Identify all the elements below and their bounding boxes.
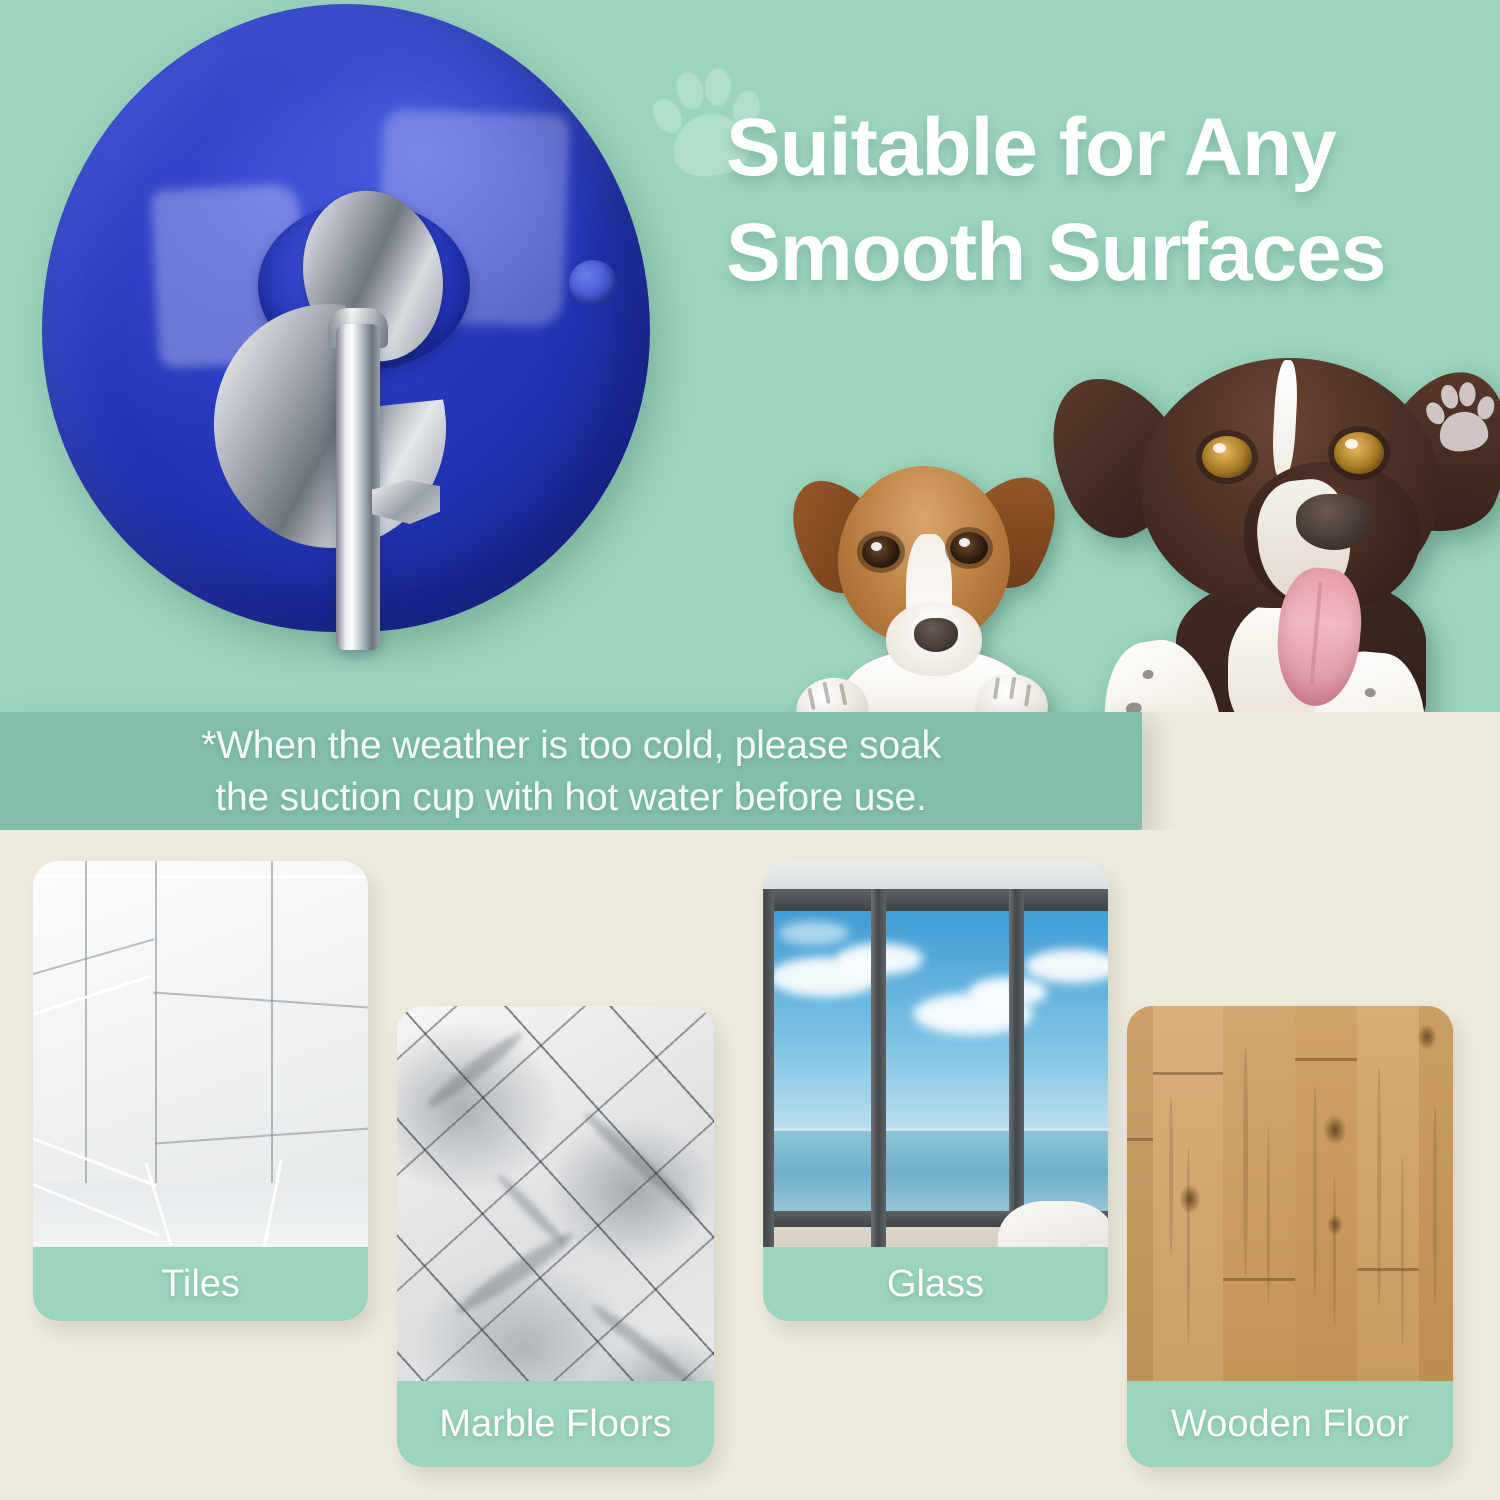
surface-card-glass: Glass [763, 861, 1108, 1321]
dog-nose [914, 618, 958, 652]
paw-toe [673, 69, 708, 112]
headline-line-2: Smooth Surfaces [726, 201, 1486, 306]
dog-eye [1334, 432, 1384, 474]
paw-toe [1438, 383, 1460, 411]
surface-cards-section: Tiles Marble Floors [0, 830, 1500, 1500]
paw-print-icon [1420, 374, 1500, 462]
dog-nose [1296, 494, 1372, 550]
product-feature-image: Suitable for Any Smooth Surfaces [0, 0, 1500, 1500]
suction-cup-tab [569, 260, 617, 306]
surface-card-wood: Wooden Floor [1127, 1006, 1453, 1467]
surface-card-marble: Marble Floors [397, 1006, 714, 1467]
disclaimer-text: *When the weather is too cold, please so… [0, 720, 1142, 825]
paw-toe [1459, 382, 1476, 406]
disclaimer-line-2: the suction cup with hot water before us… [0, 772, 1142, 824]
surface-card-label: Tiles [33, 1247, 368, 1321]
disclaimer-line-1: *When the weather is too cold, please so… [0, 720, 1142, 772]
dog-eye [862, 536, 900, 568]
dog-jack-russell [790, 452, 1090, 712]
hero-section: Suitable for Any Smooth Surfaces [0, 0, 1500, 712]
surface-card-label: Marble Floors [397, 1381, 714, 1467]
dog-eye [950, 532, 988, 564]
suction-cup-product-photo [18, 0, 668, 712]
surface-card-label: Wooden Floor [1127, 1381, 1453, 1467]
disclaimer-banner: *When the weather is too cold, please so… [0, 712, 1142, 830]
surface-card-tiles: Tiles [33, 861, 368, 1321]
headline: Suitable for Any Smooth Surfaces [726, 96, 1486, 306]
headline-line-1: Suitable for Any [726, 102, 1336, 193]
snap-hook-shaft [336, 324, 380, 650]
dog-eye [1202, 436, 1252, 478]
surface-card-label: Glass [763, 1247, 1108, 1321]
